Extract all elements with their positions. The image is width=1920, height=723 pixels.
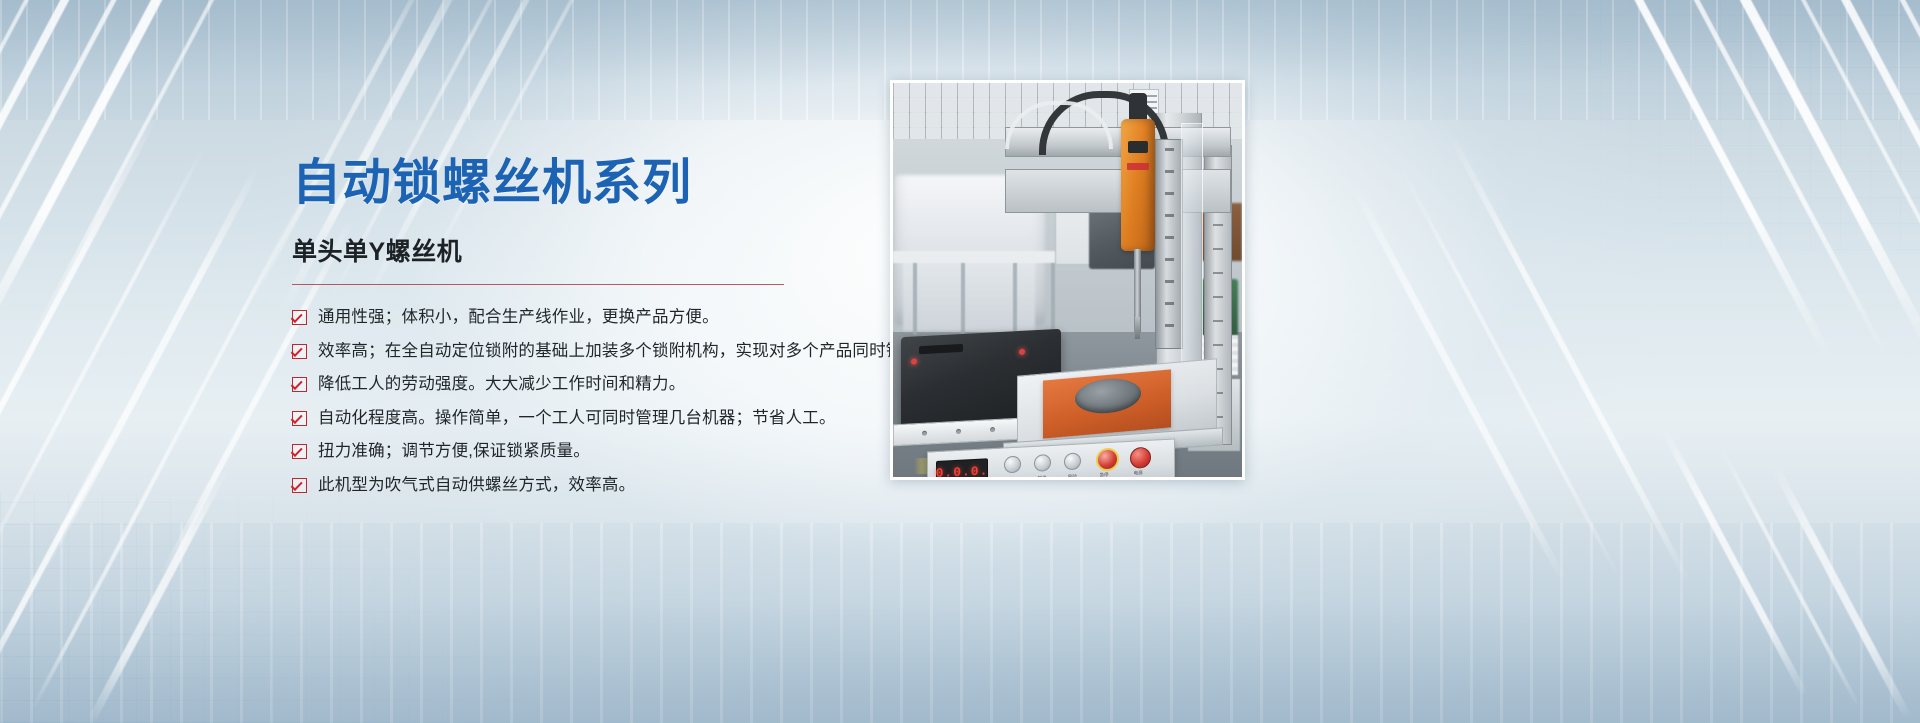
feature-item: 效率高；在全自动定位锁附的基础上加装多个锁附机构，实现对多个产品同时锁附。 — [292, 341, 892, 362]
product-photo: 0.0.0. 复位暂停启动急停电源 — [893, 83, 1242, 477]
page-subtitle: 单头单Y螺丝机 — [292, 232, 892, 268]
control-panel-display: 0.0.0. — [936, 458, 988, 477]
control-button-5[interactable] — [1130, 447, 1151, 469]
electric-screwdriver — [1121, 119, 1155, 251]
feature-text: 效率高；在全自动定位锁附的基础上加装多个锁附机构，实现对多个产品同时锁附。 — [318, 341, 936, 362]
feeder-led-left — [911, 358, 917, 364]
feature-text: 扭力准确；调节方便,保证锁紧质量。 — [318, 441, 590, 462]
feature-text: 此机型为吹气式自动供螺丝方式，效率高。 — [318, 475, 635, 496]
feature-item: 扭力准确；调节方便,保证锁紧质量。 — [292, 441, 892, 462]
feature-item: 通用性强；体积小，配合生产线作业，更换产品方便。 — [292, 307, 892, 328]
screwdriver-bit — [1134, 249, 1141, 333]
check-box-icon — [292, 310, 307, 325]
banner-content: 自动锁螺丝机系列 单头单Y螺丝机 通用性强；体积小，配合生产线作业，更换产品方便… — [0, 0, 1920, 723]
banner-text-column: 自动锁螺丝机系列 单头单Y螺丝机 通用性强；体积小，配合生产线作业，更换产品方便… — [292, 158, 892, 496]
machine-z-axis-slide — [1155, 139, 1183, 349]
check-box-icon — [292, 444, 307, 459]
feature-text: 降低工人的劳动强度。大大减少工作时间和精力。 — [318, 374, 685, 395]
feature-text: 通用性强；体积小，配合生产线作业，更换产品方便。 — [318, 307, 719, 328]
check-box-icon — [292, 377, 307, 392]
control-button-2[interactable] — [1034, 454, 1051, 472]
product-photo-frame: 0.0.0. 复位暂停启动急停电源 — [890, 80, 1245, 480]
product-banner: 自动锁螺丝机系列 单头单Y螺丝机 通用性强；体积小，配合生产线作业，更换产品方便… — [0, 0, 1920, 723]
page-title: 自动锁螺丝机系列 — [292, 158, 892, 210]
feature-list: 通用性强；体积小，配合生产线作业，更换产品方便。效率高；在全自动定位锁附的基础上… — [292, 307, 892, 496]
feature-item: 此机型为吹气式自动供螺丝方式，效率高。 — [292, 475, 892, 496]
feature-text: 自动化程度高。操作简单，一个工人可同时管理几台机器；节省人工。 — [318, 408, 836, 429]
check-box-icon — [292, 344, 307, 359]
title-divider — [292, 284, 784, 285]
feature-item: 降低工人的劳动强度。大大减少工作时间和精力。 — [292, 374, 892, 395]
feature-item: 自动化程度高。操作简单，一个工人可同时管理几台机器；节省人工。 — [292, 408, 892, 429]
control-button-label: 急停 — [1093, 472, 1115, 477]
control-button-3[interactable] — [1064, 452, 1081, 470]
control-button-4[interactable] — [1096, 447, 1119, 471]
control-panel-button-row: 复位暂停启动急停电源 — [1004, 448, 1166, 477]
photo-background-table — [893, 251, 1081, 263]
machine-acrylic-guard — [1181, 123, 1203, 363]
feeder-slot — [919, 344, 963, 354]
check-box-icon — [292, 411, 307, 426]
check-box-icon — [292, 478, 307, 493]
control-button-label: 电源 — [1127, 470, 1149, 477]
control-button-label: 暂停 — [1031, 475, 1053, 477]
control-button-label: 复位 — [1001, 476, 1023, 477]
photo-table-legs — [909, 263, 1059, 335]
control-button-1[interactable] — [1004, 456, 1021, 474]
feeder-led-right — [1019, 349, 1025, 355]
control-button-label: 启动 — [1061, 473, 1083, 477]
